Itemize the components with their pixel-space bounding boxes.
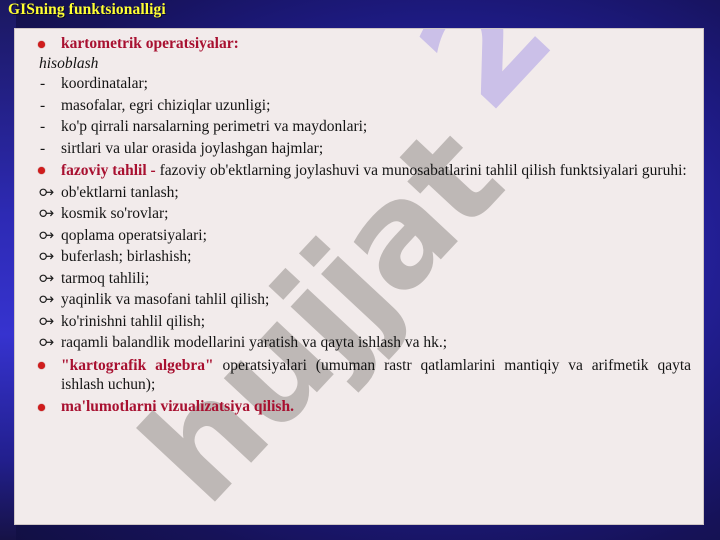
list-item-dash: - koordinatalar; [23, 76, 695, 92]
page-title: GISning funktsionalligi [8, 1, 166, 19]
list-item-hand: buferlash; birlashish; [23, 249, 695, 265]
content-panel: 24 hujjat kartometrik operatsiyalar: his… [14, 28, 704, 525]
list-item-hand: tarmoq tahlili; [23, 271, 695, 287]
bullet-dot-icon [38, 167, 45, 174]
pointing-hand-icon [39, 272, 54, 285]
list-item-fazoviy-tahlil: fazoviy tahlil - fazoviy ob'ektlarning j… [23, 162, 695, 181]
list-item-label: ob'ektlarni tanlash; [61, 184, 179, 201]
list-item-hand: raqamli balandlik modellarini yaratish v… [23, 335, 695, 351]
dash-marker-icon: - [40, 76, 45, 92]
pointing-hand-icon [39, 186, 54, 199]
list-item-heading: fazoviy tahlil - [61, 162, 156, 179]
list-item-dash: - ko'p qirrali narsalarning perimetri va… [23, 119, 695, 135]
list-item-kartografik-algebra: "kartografik algebra" operatsiyalari (um… [23, 357, 695, 395]
list-item-label: koordinatalar; [61, 75, 148, 92]
list-item-label: qoplama operatsiyalari; [61, 227, 207, 244]
slide-canvas: GISning funktsionalligi 24 hujjat kartom… [0, 0, 720, 540]
list-item-hisoblash: hisoblash [23, 56, 695, 72]
list-item-label: buferlash; birlashish; [61, 248, 191, 265]
list-item-hand: ko'rinishni tahlil qilish; [23, 314, 695, 330]
list-item-dash: - sirtlari va ular orasida joylashgan ha… [23, 141, 695, 157]
list-item-heading: kartometrik operatsiyalar: [61, 35, 239, 52]
list-item-hand: qoplama operatsiyalari; [23, 228, 695, 244]
list-item-label: tarmoq tahlili; [61, 270, 149, 287]
list-item-body: fazoviy ob'ektlarning joylashuvi va muno… [156, 162, 687, 179]
list-item-vizualizatsiya: ma'lumotlarni vizualizatsiya qilish. [23, 399, 695, 415]
pointing-hand-icon [39, 250, 54, 263]
list-item-label: raqamli balandlik modellarini yaratish v… [61, 334, 447, 351]
list-item-label: yaqinlik va masofani tahlil qilish; [61, 291, 269, 308]
list-item-heading: "kartografik algebra" [61, 357, 214, 374]
list-item-hand: ob'ektlarni tanlash; [23, 185, 695, 201]
list-item-label: ko'rinishni tahlil qilish; [61, 313, 205, 330]
dash-marker-icon: - [40, 141, 45, 157]
list-item-label: sirtlari va ular orasida joylashgan hajm… [61, 140, 323, 157]
list-item-heading: ma'lumotlarni vizualizatsiya qilish. [61, 398, 294, 415]
dash-marker-icon: - [40, 98, 45, 114]
list-item-kartometrik: kartometrik operatsiyalar: [23, 36, 695, 52]
bullet-dot-icon [38, 404, 45, 411]
pointing-hand-icon [39, 207, 54, 220]
dash-marker-icon: - [40, 119, 45, 135]
pointing-hand-icon [39, 336, 54, 349]
list-item-label: kosmik so'rovlar; [61, 205, 168, 222]
list-item-label: ko'p qirrali narsalarning perimetri va m… [61, 118, 367, 135]
list-item-label: masofalar, egri chiziqlar uzunligi; [61, 97, 270, 114]
pointing-hand-icon [39, 315, 54, 328]
bullet-dot-icon [38, 362, 45, 369]
list-item-dash: - masofalar, egri chiziqlar uzunligi; [23, 98, 695, 114]
bullet-dot-icon [38, 41, 45, 48]
pointing-hand-icon [39, 229, 54, 242]
bullet-list: kartometrik operatsiyalar: hisoblash - k… [15, 29, 703, 414]
pointing-hand-icon [39, 293, 54, 306]
list-item-hand: kosmik so'rovlar; [23, 206, 695, 222]
list-item-hand: yaqinlik va masofani tahlil qilish; [23, 292, 695, 308]
